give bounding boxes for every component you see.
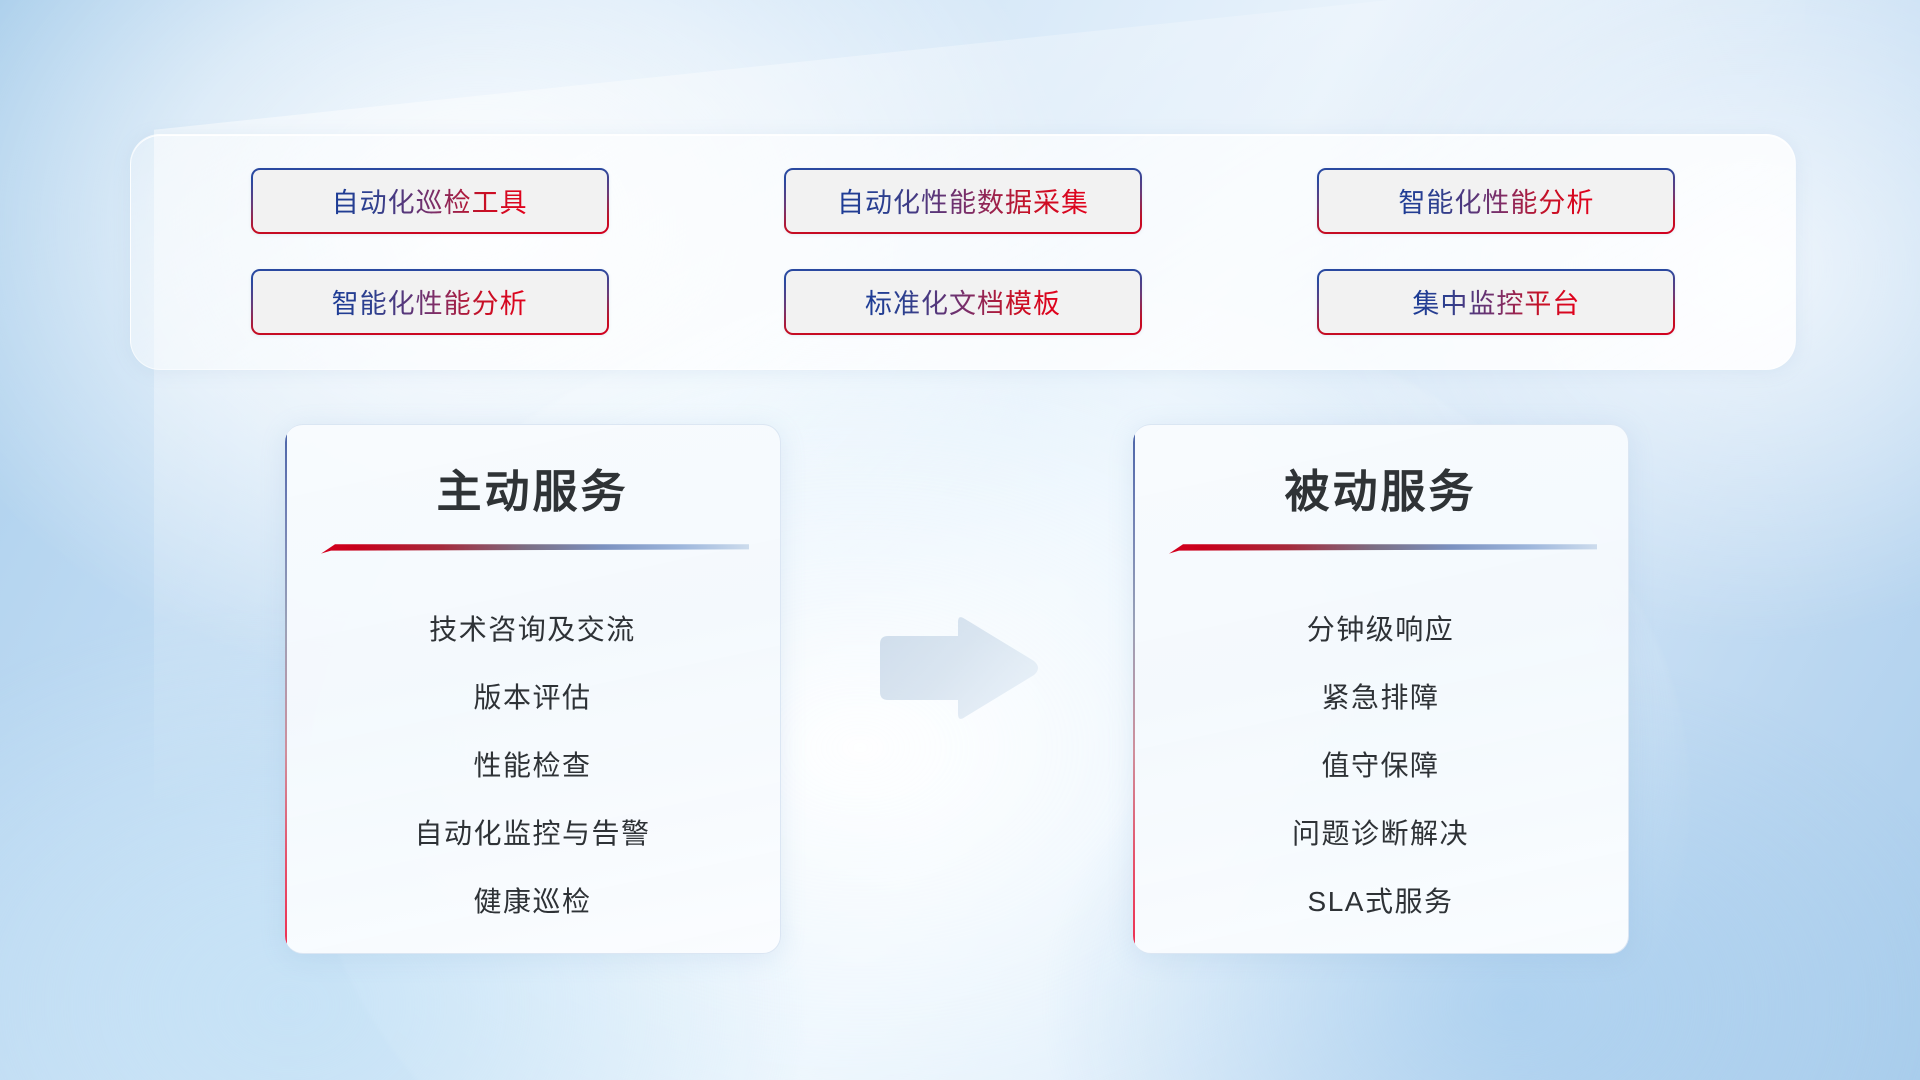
capability-pill-label: 自动化巡检工具 (332, 181, 528, 220)
service-list-item: 分钟级响应 (1307, 607, 1455, 653)
capability-pill-label: 智能化性能分析 (332, 282, 528, 321)
service-list-item: 值守保障 (1321, 743, 1439, 789)
capability-pill-grid: 自动化巡检工具 自动化性能数据采集 智能化性能分析 智能化性能分析 标准化文档模… (131, 135, 1795, 369)
title-underline-rule (321, 541, 749, 554)
capability-panel: 自动化巡检工具 自动化性能数据采集 智能化性能分析 智能化性能分析 标准化文档模… (130, 134, 1796, 370)
arrow-right-icon (872, 612, 1044, 724)
capability-pill[interactable]: 集中监控平台 (1317, 269, 1675, 335)
capability-pill-label: 集中监控平台 (1412, 282, 1580, 321)
capability-pill[interactable]: 智能化性能分析 (1317, 168, 1675, 234)
service-card-passive[interactable]: 被动服务 分钟级响应 紧急排障 (1133, 424, 1629, 954)
title-underline-rule (1169, 541, 1597, 554)
service-card-active[interactable]: 主动服务 技术咨询及交流 版本评估 (285, 424, 781, 954)
capability-pill[interactable]: 智能化性能分析 (251, 269, 609, 335)
service-list-item: 性能检查 (473, 743, 591, 789)
service-list-item: 版本评估 (473, 675, 591, 721)
capability-pill-label: 智能化性能分析 (1398, 181, 1594, 220)
service-list-item: 自动化监控与告警 (414, 811, 650, 857)
service-card-title: 主动服务 (285, 455, 780, 520)
service-list-item: 问题诊断解决 (1292, 811, 1469, 857)
capability-pill[interactable]: 自动化性能数据采集 (784, 168, 1142, 234)
capability-pill[interactable]: 标准化文档模板 (784, 269, 1142, 335)
service-list-item: 健康巡检 (473, 879, 591, 925)
diagram-stage: 自动化巡检工具 自动化性能数据采集 智能化性能分析 智能化性能分析 标准化文档模… (0, 0, 1920, 1080)
service-card-title: 被动服务 (1133, 455, 1628, 520)
service-card-list: 分钟级响应 紧急排障 值守保障 问题诊断解决 SLA式服务 (1133, 585, 1628, 927)
service-list-item: 技术咨询及交流 (429, 607, 636, 653)
capability-pill[interactable]: 自动化巡检工具 (251, 168, 609, 234)
service-list-item: SLA式服务 (1308, 879, 1454, 925)
capability-pill-label: 自动化性能数据采集 (837, 181, 1089, 220)
service-card-list: 技术咨询及交流 版本评估 性能检查 自动化监控与告警 健康巡检 (285, 585, 780, 927)
capability-pill-label: 标准化文档模板 (865, 282, 1061, 321)
service-list-item: 紧急排障 (1321, 675, 1439, 721)
